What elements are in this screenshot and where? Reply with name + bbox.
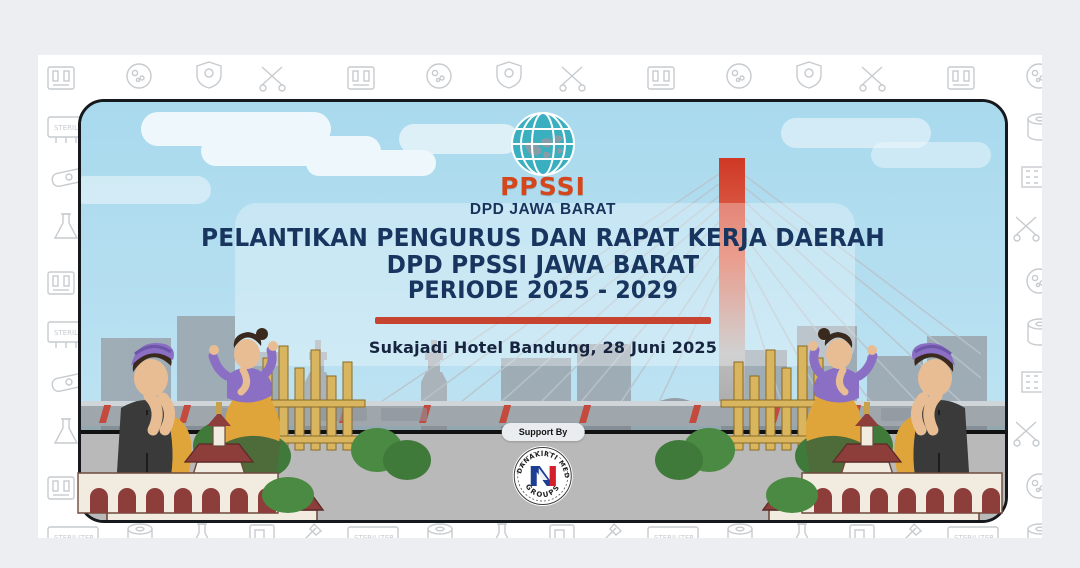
venue-and-date: Sukajadi Hotel Bandung, 28 Juni 2025 [81, 338, 1005, 357]
headline-block: PELANTIKAN PENGURUS DAN RAPAT KERJA DAER… [81, 224, 1005, 357]
red-divider-rule [375, 317, 711, 324]
support-by-label: Support By [502, 423, 585, 441]
event-banner-card: PPSSI DPD JAWA BARAT PELANTIKAN PENGURUS… [78, 99, 1008, 523]
banner-stage: STERILIZER [0, 0, 1080, 568]
headline-line-3: PERIODE 2025 - 2029 [113, 278, 972, 304]
globe-icon [500, 110, 586, 178]
danakirti-seal-icon: PT DANAKIRTI MEDIA GROUPS [511, 444, 575, 508]
ppssi-logo-block: PPSSI DPD JAWA BARAT [81, 110, 1005, 218]
headline-line-2: DPD PPSSI JAWA BARAT [113, 251, 972, 278]
sponsor-seal: PT DANAKIRTI MEDIA GROUPS [502, 444, 585, 513]
sponsor-block: Support By PT DANAKIRTI MEDIA GROUPS [502, 422, 585, 513]
org-chapter: DPD JAWA BARAT [81, 202, 1005, 218]
org-acronym: PPSSI [81, 174, 1005, 199]
headline-line-1: PELANTIKAN PENGURUS DAN RAPAT KERJA DAER… [113, 224, 972, 251]
